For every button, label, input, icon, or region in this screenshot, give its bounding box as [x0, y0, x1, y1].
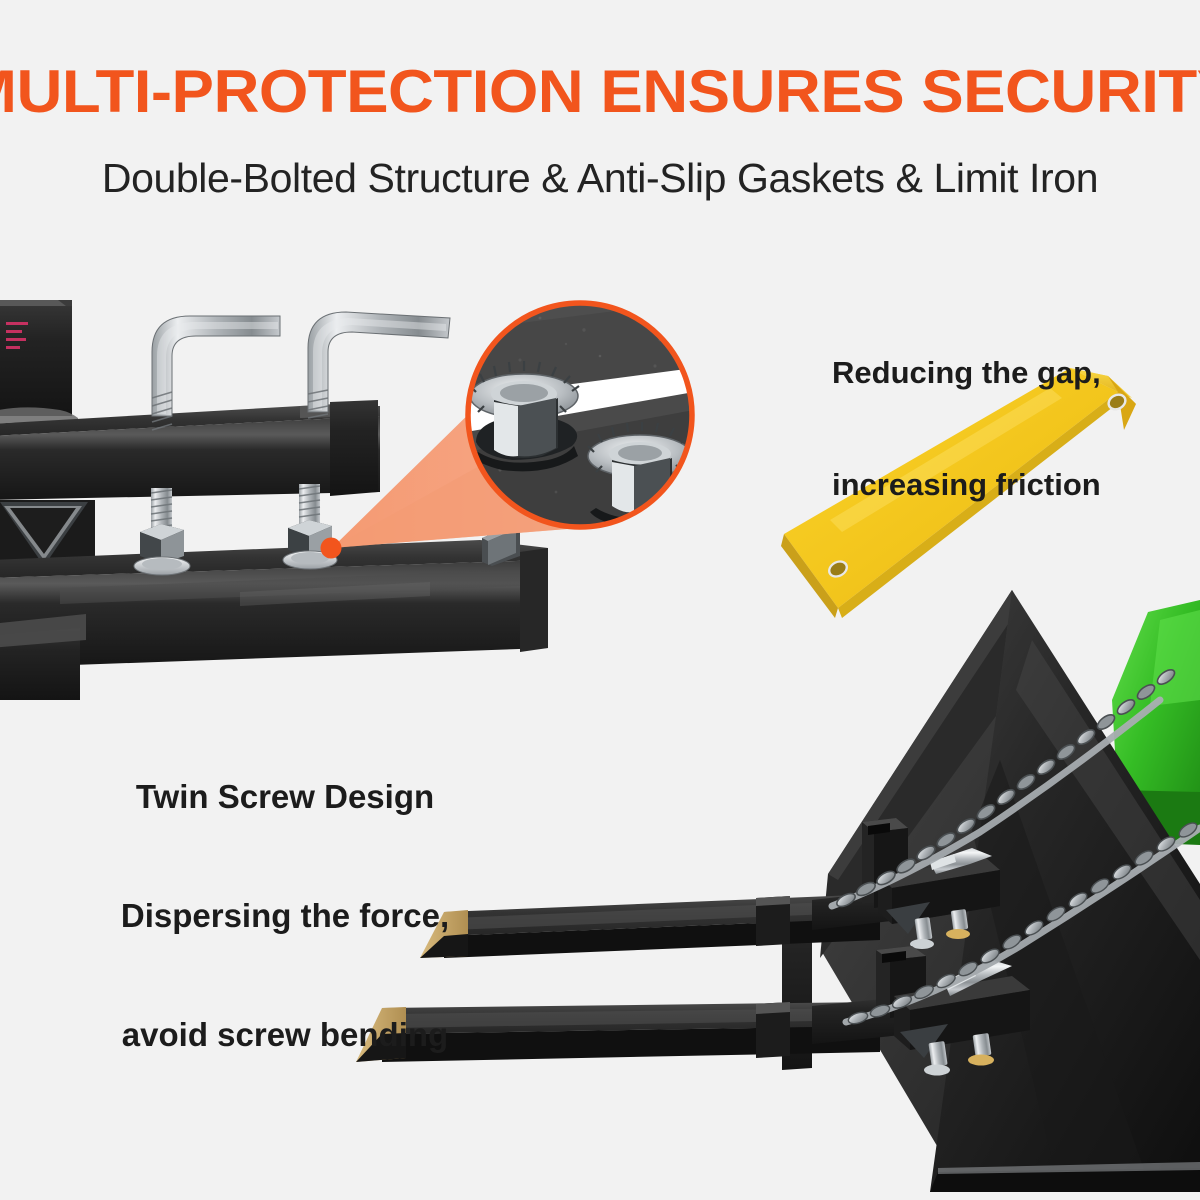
blade-collar-lower — [756, 1002, 790, 1058]
l-screw-rod-2 — [308, 312, 450, 418]
callout-reducing-gap: Reducing the gap, increasing friction — [832, 280, 1192, 578]
page-subheadline: Double-Bolted Structure & Anti-Slip Gask… — [0, 158, 1200, 199]
magnifier-hotspot-dot — [321, 538, 342, 559]
mount-tube — [0, 300, 72, 416]
callout-right-line-2: increasing friction — [832, 466, 1192, 503]
blade-collar-upper — [756, 896, 790, 946]
callout-left-line-3: avoid screw bending — [75, 1015, 495, 1055]
hex-nut-1 — [134, 524, 190, 575]
callout-left-line-2: Dispersing the force, — [75, 896, 495, 936]
page-headline: MULTI-PROTECTION ENSURES SECURITY — [0, 62, 1200, 122]
callout-left-line-1: Twin Screw Design — [75, 777, 495, 817]
callout-right-line-1: Reducing the gap, — [832, 354, 1192, 391]
callout-twin-screw-design: Twin Screw Design Dispersing the force, … — [75, 698, 495, 1134]
v-notch-bracket — [0, 500, 95, 566]
product-feature-graphic: MULTI-PROTECTION ENSURES SECURITY Double… — [0, 0, 1200, 1200]
serrated-washer-1 — [134, 557, 190, 575]
